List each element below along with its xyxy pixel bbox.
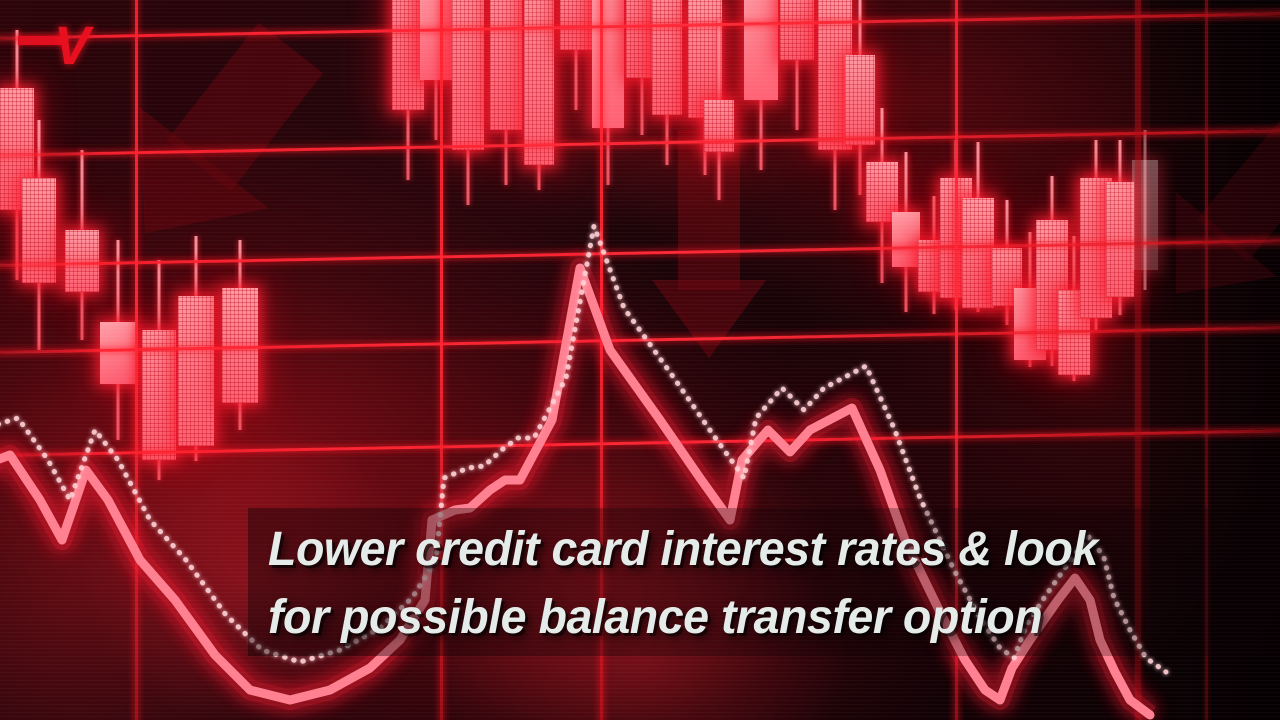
subtitle-caption: Lower credit card interest rates & look … <box>248 508 1280 656</box>
channel-watermark-logo: V <box>18 14 104 76</box>
logo-v-glyph: V <box>54 26 90 66</box>
gridline-vertical <box>135 0 138 720</box>
gridline-horizontal <box>0 11 1280 41</box>
gridline-horizontal <box>0 428 1280 458</box>
video-frame: V Lower credit card interest rates & loo… <box>0 0 1280 720</box>
caption-line-2: for possible balance transfer option <box>268 590 1042 645</box>
gridline-horizontal <box>0 128 1280 158</box>
gridline-horizontal <box>0 238 1280 268</box>
gridline-horizontal <box>0 325 1280 355</box>
caption-line-1: Lower credit card interest rates & look <box>268 522 1098 577</box>
